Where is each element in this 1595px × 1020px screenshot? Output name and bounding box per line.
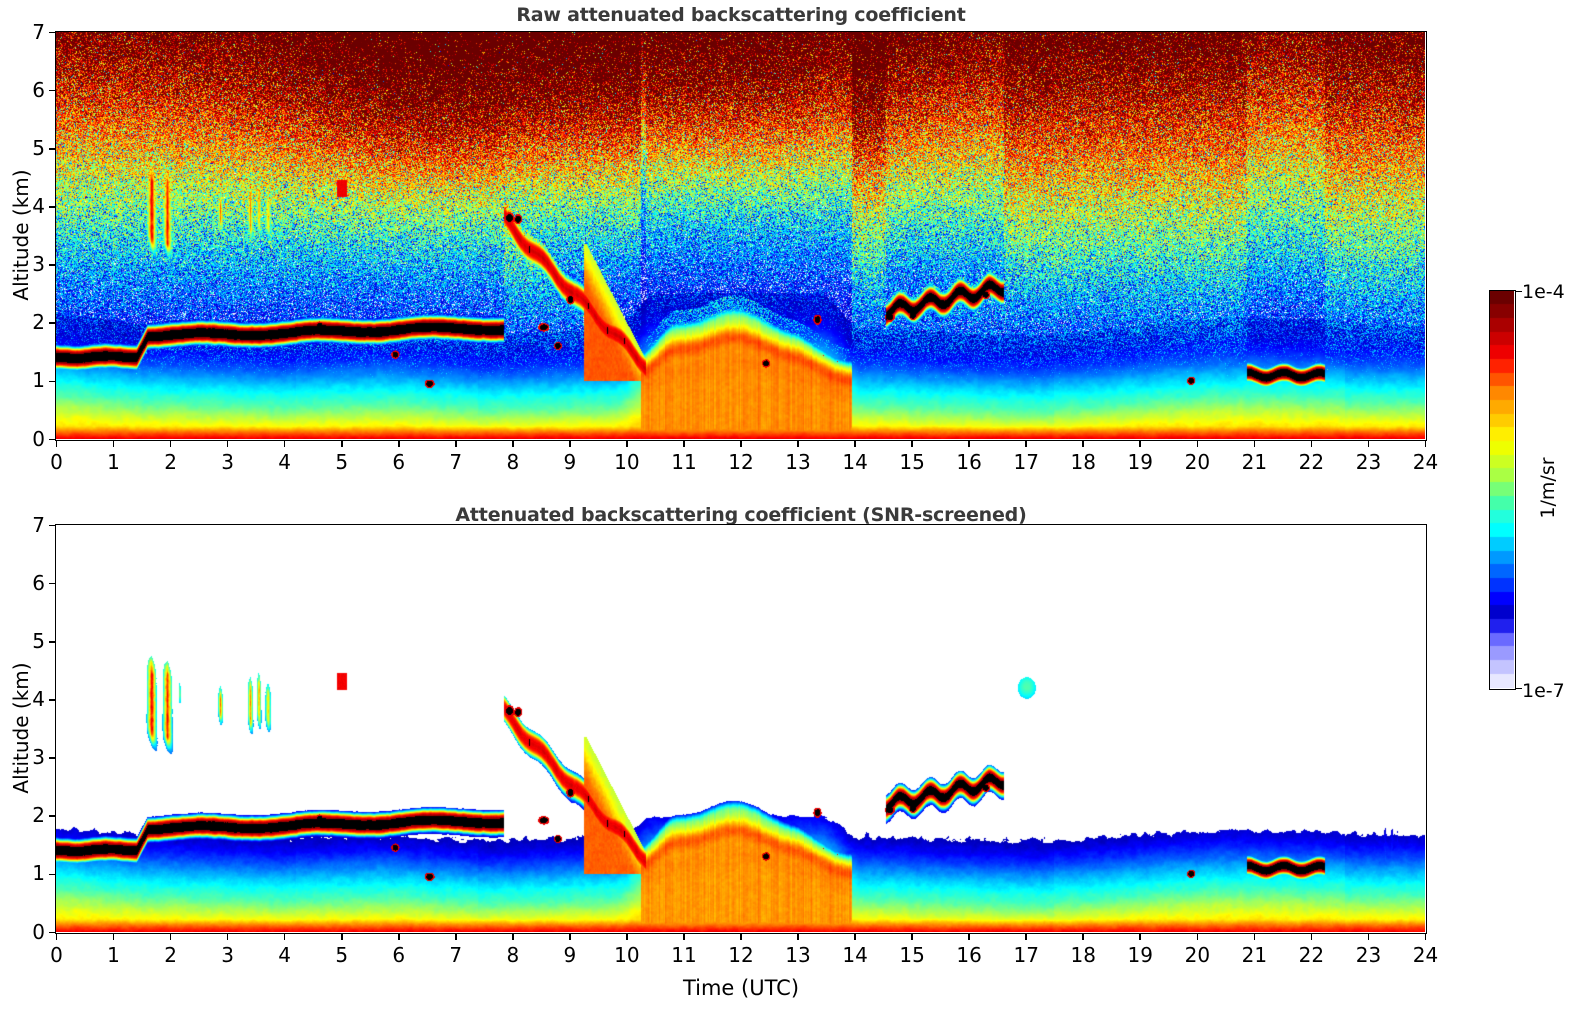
x-tick-label: 24 (1406, 943, 1446, 967)
x-tick-mark (569, 933, 571, 940)
y-tick-label: 7 (11, 20, 45, 44)
x-tick-mark (1139, 440, 1141, 447)
x-tick-mark (569, 440, 571, 447)
x-tick-label: 0 (37, 450, 77, 474)
x-tick-mark (341, 440, 343, 447)
x-tick-label: 13 (778, 450, 818, 474)
x-tick-label: 10 (607, 450, 647, 474)
y-tick-mark (49, 322, 56, 324)
y-tick-label: 6 (11, 78, 45, 102)
y-tick-mark (49, 874, 56, 876)
x-tick-mark (740, 440, 742, 447)
colorbar-max-tick (1516, 291, 1522, 292)
x-tick-label: 22 (1291, 450, 1331, 474)
x-tick-label: 23 (1348, 943, 1388, 967)
x-tick-label: 23 (1348, 450, 1388, 474)
x-tick-mark (1197, 440, 1199, 447)
x-tick-label: 6 (379, 943, 419, 967)
x-tick-mark (797, 933, 799, 940)
y-tick-label: 1 (11, 861, 45, 885)
x-tick-mark (1139, 933, 1141, 940)
x-tick-mark (1425, 440, 1427, 447)
x-tick-mark (626, 933, 628, 940)
x-tick-mark (1368, 440, 1370, 447)
y-tick-label: 0 (11, 920, 45, 944)
x-tick-mark (854, 440, 856, 447)
x-tick-mark (284, 933, 286, 940)
x-tick-label: 0 (37, 943, 77, 967)
colorbar-max-tick-label: 1e-4 (1522, 281, 1565, 303)
x-tick-mark (113, 440, 115, 447)
x-tick-mark (911, 933, 913, 940)
x-tick-mark (683, 933, 685, 940)
x-tick-label: 13 (778, 943, 818, 967)
raw-backscatter-heatmap[interactable] (55, 31, 1427, 441)
x-tick-label: 22 (1291, 943, 1331, 967)
x-tick-label: 7 (436, 450, 476, 474)
x-tick-mark (284, 440, 286, 447)
y-tick-mark (49, 381, 56, 383)
x-tick-mark (398, 933, 400, 940)
x-tick-label: 12 (721, 450, 761, 474)
x-tick-mark (56, 933, 58, 940)
x-tick-label: 4 (265, 450, 305, 474)
x-tick-mark (1025, 440, 1027, 447)
x-tick-label: 19 (1120, 450, 1160, 474)
colorbar-gradient[interactable] (1489, 290, 1516, 690)
x-tick-label: 19 (1120, 943, 1160, 967)
x-tick-mark (113, 933, 115, 940)
x-tick-mark (56, 440, 58, 447)
x-tick-mark (1368, 933, 1370, 940)
x-tick-label: 5 (322, 450, 362, 474)
x-tick-label: 12 (721, 943, 761, 967)
x-tick-label: 15 (892, 450, 932, 474)
x-tick-label: 16 (949, 450, 989, 474)
x-tick-label: 9 (550, 450, 590, 474)
x-tick-mark (512, 933, 514, 940)
x-tick-label: 2 (151, 450, 191, 474)
y-tick-mark (49, 699, 56, 701)
y-tick-mark (49, 525, 56, 527)
y-tick-label: 3 (11, 745, 45, 769)
x-tick-mark (854, 933, 856, 940)
y-tick-label: 6 (11, 571, 45, 595)
screened-backscatter-heatmap[interactable] (55, 524, 1427, 934)
x-tick-mark (341, 933, 343, 940)
x-tick-label: 6 (379, 450, 419, 474)
x-tick-mark (626, 440, 628, 447)
x-tick-mark (911, 440, 913, 447)
x-tick-mark (455, 440, 457, 447)
y-tick-mark (49, 439, 56, 441)
y-tick-mark (49, 148, 56, 150)
x-tick-label: 10 (607, 943, 647, 967)
x-tick-label: 11 (664, 943, 704, 967)
x-tick-mark (227, 440, 229, 447)
y-tick-label: 2 (11, 310, 45, 334)
x-tick-mark (170, 933, 172, 940)
x-tick-mark (170, 440, 172, 447)
panel-raw-title: Raw attenuated backscattering coefficien… (241, 4, 1241, 26)
x-tick-label: 17 (1006, 450, 1046, 474)
x-tick-mark (1082, 933, 1084, 940)
y-tick-label: 1 (11, 368, 45, 392)
y-tick-label: 4 (11, 194, 45, 218)
x-tick-mark (398, 440, 400, 447)
x-tick-mark (512, 440, 514, 447)
x-tick-label: 20 (1177, 943, 1217, 967)
x-tick-label: 15 (892, 943, 932, 967)
x-tick-label: 2 (151, 943, 191, 967)
x-tick-label: 3 (208, 943, 248, 967)
x-tick-mark (227, 933, 229, 940)
x-tick-label: 1 (94, 943, 134, 967)
y-tick-mark (49, 32, 56, 34)
x-tick-label: 9 (550, 943, 590, 967)
y-tick-label: 2 (11, 803, 45, 827)
colorbar-unit-label: 1/m/sr (1537, 428, 1559, 548)
colorbar-min-tick (1516, 688, 1522, 689)
y-tick-mark (49, 815, 56, 817)
x-tick-label: 21 (1234, 450, 1274, 474)
y-tick-label: 3 (11, 252, 45, 276)
x-tick-mark (1254, 440, 1256, 447)
y-tick-mark (49, 641, 56, 643)
y-tick-label: 4 (11, 687, 45, 711)
x-tick-label: 3 (208, 450, 248, 474)
y-tick-label: 7 (11, 513, 45, 537)
x-tick-mark (1025, 933, 1027, 940)
x-tick-mark (1197, 933, 1199, 940)
x-tick-mark (1254, 933, 1256, 940)
x-tick-mark (1311, 440, 1313, 447)
y-tick-mark (49, 264, 56, 266)
y-tick-mark (49, 583, 56, 585)
y-tick-mark (49, 757, 56, 759)
x-tick-mark (683, 440, 685, 447)
x-tick-label: 18 (1063, 450, 1103, 474)
x-tick-mark (1082, 440, 1084, 447)
x-tick-mark (797, 440, 799, 447)
x-axis-label: Time (UTC) (341, 976, 1141, 1000)
x-tick-label: 16 (949, 943, 989, 967)
x-tick-label: 8 (493, 450, 533, 474)
y-tick-mark (49, 90, 56, 92)
x-tick-label: 14 (835, 943, 875, 967)
x-tick-label: 7 (436, 943, 476, 967)
x-tick-mark (968, 440, 970, 447)
panel-screened-title: Attenuated backscattering coefficient (S… (241, 504, 1241, 526)
x-tick-label: 1 (94, 450, 134, 474)
x-tick-label: 18 (1063, 943, 1103, 967)
x-tick-mark (1425, 933, 1427, 940)
y-tick-mark (49, 206, 56, 208)
x-tick-label: 11 (664, 450, 704, 474)
y-tick-label: 0 (11, 427, 45, 451)
x-tick-label: 24 (1406, 450, 1446, 474)
y-tick-label: 5 (11, 136, 45, 160)
x-tick-label: 14 (835, 450, 875, 474)
y-tick-mark (49, 932, 56, 934)
x-tick-label: 5 (322, 943, 362, 967)
y-tick-label: 5 (11, 629, 45, 653)
x-tick-label: 4 (265, 943, 305, 967)
x-tick-label: 8 (493, 943, 533, 967)
x-tick-mark (740, 933, 742, 940)
x-tick-mark (1311, 933, 1313, 940)
x-tick-label: 21 (1234, 943, 1274, 967)
x-tick-mark (968, 933, 970, 940)
colorbar-min-tick-label: 1e-7 (1522, 680, 1565, 702)
x-tick-label: 20 (1177, 450, 1217, 474)
x-tick-mark (455, 933, 457, 940)
x-tick-label: 17 (1006, 943, 1046, 967)
